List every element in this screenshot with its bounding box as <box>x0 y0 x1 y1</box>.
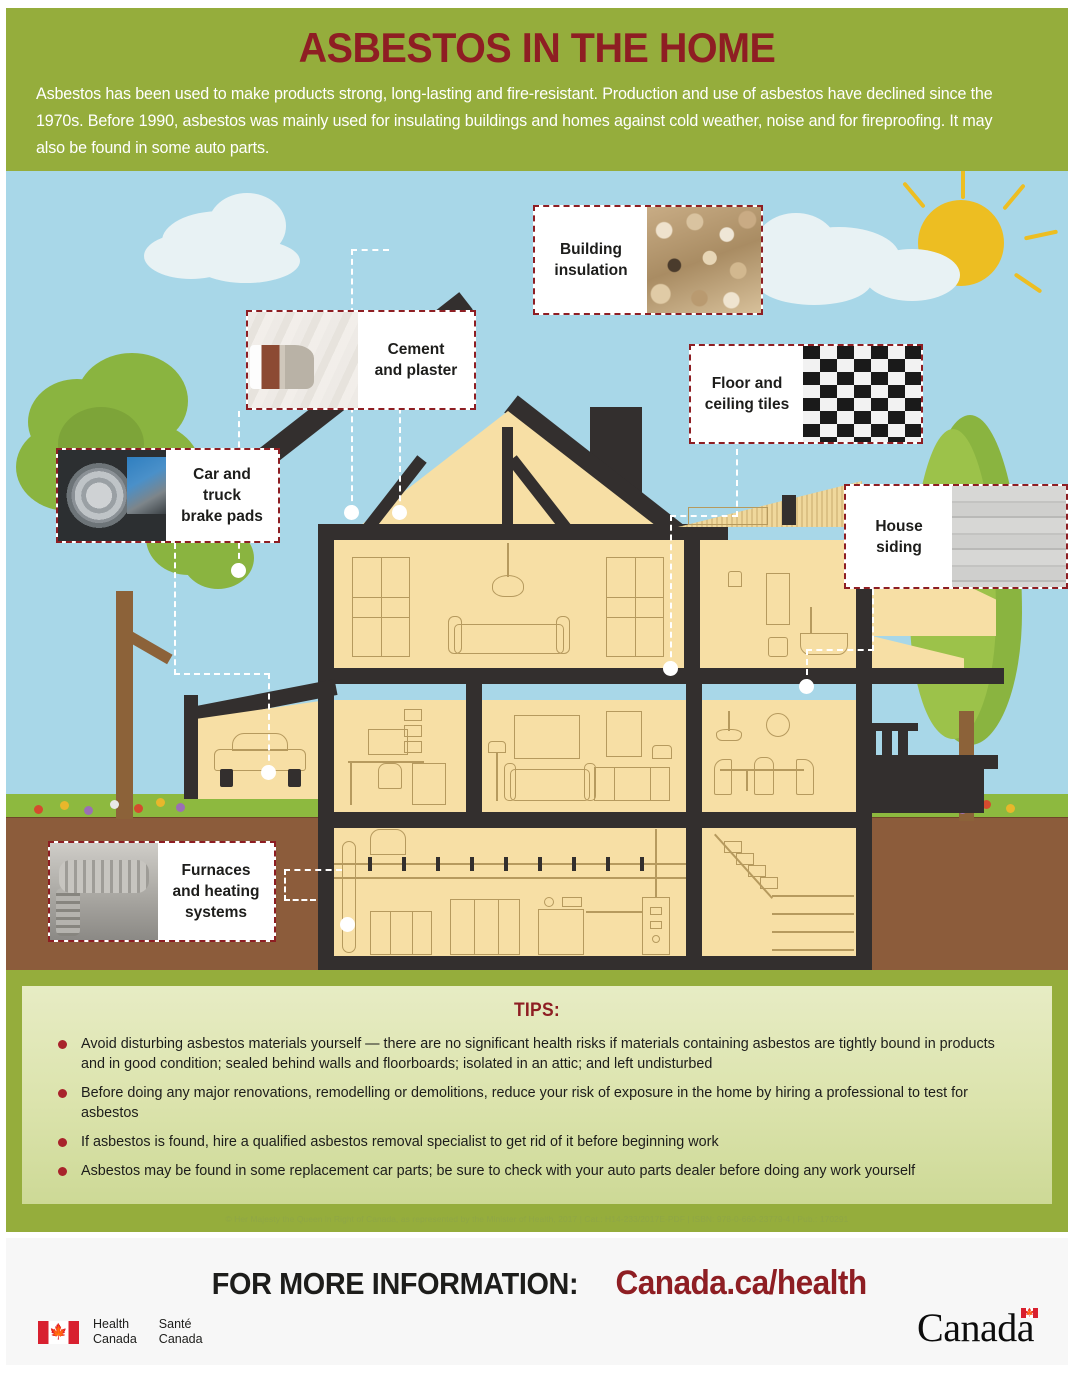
sofa-arm <box>556 616 570 654</box>
stair-landing-line <box>772 949 854 951</box>
plastering-trowel-photo <box>248 312 358 408</box>
stair-landing-line <box>772 913 854 915</box>
leader-line-tiles <box>670 515 672 667</box>
furnace-duct-elbow <box>370 829 406 855</box>
duct-hanger <box>504 857 508 871</box>
attic-stored-item <box>782 495 796 525</box>
stair-landing-line <box>772 931 854 933</box>
tips-section: TIPS: Avoid disturbing asbestos material… <box>6 970 1068 1232</box>
more-information-block: FOR MORE INFORMATION:Canada.ca/health <box>6 1264 1068 1303</box>
maple-leaf-icon: 🍁 <box>1025 1309 1034 1317</box>
attic-floor-beam <box>318 524 728 540</box>
page-title: ASBESTOS IN THE HOME <box>66 22 1008 74</box>
callout-label-line2: and heating <box>173 883 260 900</box>
stair-landing-line <box>772 895 854 897</box>
car-wheel <box>220 769 233 787</box>
basement-interior-wall <box>686 828 702 956</box>
callout-label-line1: Furnaces <box>182 862 251 879</box>
porch-rail-post <box>898 729 908 759</box>
basement-wall-right <box>856 828 872 956</box>
leader-dot-insulation <box>344 505 359 520</box>
leader-line-insulation <box>351 249 389 251</box>
house-cutaway-diagram <box>166 411 926 891</box>
callout-building-insulation[interactable]: Building insulation <box>533 205 763 315</box>
leader-dot-plaster <box>231 563 246 578</box>
callout-car-and-truck-brake-pads[interactable]: Car and truck brake pads <box>56 448 280 543</box>
stair-step <box>736 853 754 865</box>
porch-rail-post <box>866 729 876 759</box>
wall-lamp <box>728 571 742 587</box>
furnace-duct-photo <box>50 843 158 940</box>
tree-trunk <box>116 591 133 819</box>
leader-dot-siding <box>799 679 814 694</box>
duct-hanger <box>606 857 610 871</box>
monitor <box>368 729 408 755</box>
wall-frame <box>404 741 422 753</box>
washer-control-panel <box>562 897 582 907</box>
pendant-lamp-shade <box>716 729 742 741</box>
callout-label-house-siding: House siding <box>846 486 952 587</box>
dining-table-leg <box>746 769 748 791</box>
flower-icon <box>60 801 69 810</box>
car-roof <box>232 733 288 751</box>
flower-icon <box>156 798 165 807</box>
leader-line-siding <box>806 649 874 651</box>
canada-wordmark: Canada 🍁 <box>917 1304 1034 1351</box>
washing-machine <box>538 909 584 955</box>
main-floor-slab <box>318 668 1004 684</box>
bookcase-shelf <box>352 617 410 618</box>
footer: FOR MORE INFORMATION:Canada.ca/health 🍁 … <box>6 1238 1068 1365</box>
tub-faucet <box>810 607 812 633</box>
health-canada-fr-line1: Santé <box>159 1317 203 1332</box>
header-banner: ASBESTOS IN THE HOME Asbestos has been u… <box>6 8 1068 171</box>
sofa-arm <box>448 616 462 654</box>
sun-ray-icon <box>961 171 965 199</box>
health-canada-signature: 🍁 Health Canada Santé Canada <box>38 1317 225 1347</box>
duct-hanger <box>470 857 474 871</box>
checkerboard-tile-floor-photo <box>803 346 921 442</box>
leader-dot-furnace <box>340 917 355 932</box>
callout-label-line2: insulation <box>554 262 627 279</box>
callout-label-floor-and-ceiling-tiles: Floor and ceiling tiles <box>691 346 803 442</box>
porch-body <box>866 769 984 813</box>
car-wheel <box>288 769 301 787</box>
leader-line-furnace <box>284 869 342 871</box>
toilet <box>768 637 788 657</box>
interior-wall-main-1 <box>466 684 482 812</box>
boiler-vent <box>650 921 662 929</box>
car-body <box>214 749 306 771</box>
tip-text: Asbestos may be found in some replacemen… <box>81 1161 1012 1181</box>
copyright-line: © Her Majesty the Queen in Right of Cana… <box>6 1214 1068 1224</box>
leader-line-brakes <box>268 673 270 771</box>
health-canada-en-line2: Canada <box>93 1332 137 1347</box>
wall-frame <box>606 711 642 757</box>
pendant-lamp-cord <box>728 711 730 731</box>
garage-wall-left <box>184 695 198 799</box>
roof-king-post <box>502 427 513 531</box>
leader-line-brakes <box>174 673 270 675</box>
basement-wall-left <box>318 828 334 956</box>
boiler-gauge <box>652 935 660 943</box>
wall-frame <box>404 725 422 737</box>
sun-ray-icon <box>1002 183 1026 210</box>
sun-ray-icon <box>1014 272 1043 293</box>
basement-floor-slab <box>318 956 872 970</box>
pendant-lamp-shade <box>492 575 524 597</box>
gray-siding-planks-photo <box>952 486 1066 587</box>
exterior-wall-left-upper <box>318 524 334 668</box>
stair-step <box>760 877 778 889</box>
maple-leaf-icon: 🍁 <box>49 1325 68 1340</box>
dresser-divider <box>614 767 615 801</box>
wall-clock <box>766 713 790 737</box>
website-url[interactable]: Canada.ca/health <box>615 1264 866 1303</box>
canada-wordmark-flag-icon: 🍁 <box>1021 1308 1038 1318</box>
interior-wall-main-2 <box>686 684 702 812</box>
stair-step <box>748 865 766 877</box>
wall-frame <box>404 709 422 721</box>
callout-label-car-and-truck-brake-pads: Car and truck brake pads <box>166 450 278 541</box>
callout-label-building-insulation: Building insulation <box>535 207 647 313</box>
brake-rotor-photo <box>58 450 166 541</box>
desk-leg <box>350 761 352 805</box>
bookcase-shelf <box>606 617 664 618</box>
dresser-divider <box>650 767 651 801</box>
furnace-vent-pipe <box>342 841 356 953</box>
furnace-panel-divider <box>390 911 391 955</box>
tip-item: If asbestos is found, hire a qualified a… <box>48 1132 1026 1152</box>
leader-line-tiles <box>736 449 738 517</box>
infographic-poster: ASBESTOS IN THE HOME Asbestos has been u… <box>0 0 1074 1373</box>
health-canada-fr: Santé Canada <box>159 1317 203 1347</box>
leader-dot-insulation-branch <box>392 505 407 520</box>
tv-screen <box>514 715 580 759</box>
callout-label-line1: Car and truck <box>193 466 251 504</box>
office-chair <box>378 763 402 789</box>
dining-chair <box>714 759 732 795</box>
boiler-vent <box>650 907 662 915</box>
tip-text: If asbestos is found, hire a qualified a… <box>81 1132 1012 1152</box>
bullet-icon <box>58 1040 67 1049</box>
table-lamp-shade <box>652 745 672 759</box>
leader-dot-brakes <box>261 765 276 780</box>
leader-line-furnace <box>284 869 286 901</box>
sun-ray-icon <box>1024 230 1058 241</box>
callout-label-line1: Cement <box>388 341 445 358</box>
basement-ceiling-slab <box>318 812 872 828</box>
towel-radiator <box>766 573 790 625</box>
bullet-icon <box>58 1138 67 1147</box>
sun-ray-icon <box>902 181 926 208</box>
tip-text: Before doing any major renovations, remo… <box>81 1083 1012 1123</box>
floor-lamp-shade <box>488 741 506 753</box>
callout-furnaces-and-heating-systems[interactable]: Furnaces and heating systems <box>48 841 276 942</box>
interior-wall-upper <box>684 524 700 668</box>
cabinet-divider <box>474 899 475 955</box>
tip-item: Before doing any major renovations, remo… <box>48 1083 1026 1123</box>
bookcase-shelf <box>352 597 410 598</box>
main-duct-top <box>334 863 686 865</box>
leader-line-brakes <box>174 543 176 675</box>
sofa <box>510 769 590 801</box>
callout-label-line1: House siding <box>856 516 942 558</box>
leader-dot-tiles <box>663 661 678 676</box>
callout-label-line2: brake pads <box>181 508 263 525</box>
dining-chair <box>796 759 814 795</box>
exterior-wall-left-main <box>318 684 334 812</box>
washer-dial <box>544 897 554 907</box>
floor-lamp-pole <box>496 753 498 801</box>
cabinet-divider <box>498 899 499 955</box>
leader-line-furnace <box>284 899 316 901</box>
bookcase-shelf <box>606 597 664 598</box>
furnace-unit <box>370 911 432 955</box>
house-illustration-scene: Building insulation Cement and plaster F… <box>6 171 1068 970</box>
callout-label-cement-and-plaster: Cement and plaster <box>358 312 474 408</box>
porch-rail-top <box>866 723 918 731</box>
bookcase-divider <box>635 557 636 657</box>
callout-label-line1: Floor and <box>712 375 783 392</box>
room-main-office <box>334 700 466 812</box>
duct-hanger <box>572 857 576 871</box>
cloud-icon <box>864 249 960 301</box>
callout-label-line2: and plaster <box>375 362 458 379</box>
leader-line-tiles <box>670 515 738 517</box>
health-canada-en-line1: Health <box>93 1317 137 1332</box>
callout-house-siding[interactable]: House siding <box>844 484 1068 589</box>
health-canada-en: Health Canada <box>93 1317 137 1347</box>
pendant-lamp-cord <box>507 543 509 577</box>
furnace-panel-divider <box>412 911 413 955</box>
callout-cement-and-plaster[interactable]: Cement and plaster <box>246 310 476 410</box>
duct-hanger <box>436 857 440 871</box>
callout-label-line1: Building <box>560 241 622 258</box>
boiler-flue <box>655 829 657 897</box>
bookcase-divider <box>381 557 382 657</box>
bullet-icon <box>58 1089 67 1098</box>
duct-hanger <box>538 857 542 871</box>
flower-icon <box>110 800 119 809</box>
stair-step <box>724 841 742 853</box>
duct-hanger <box>368 857 372 871</box>
tip-item: Avoid disturbing asbestos materials your… <box>48 1034 1026 1074</box>
counter-top <box>586 911 642 913</box>
tips-title: TIPS: <box>87 1000 987 1022</box>
tip-text: Avoid disturbing asbestos materials your… <box>81 1034 1012 1074</box>
tip-item: Asbestos may be found in some replacemen… <box>48 1161 1026 1181</box>
vermiculite-insulation-photo <box>647 207 761 313</box>
more-information-label: FOR MORE INFORMATION: <box>212 1266 578 1302</box>
flower-icon <box>134 804 143 813</box>
callout-label-line2: ceiling tiles <box>705 396 789 413</box>
dresser <box>594 767 670 801</box>
callout-label-line3: systems <box>185 904 247 921</box>
bullet-icon <box>58 1167 67 1176</box>
duct-hanger <box>640 857 644 871</box>
cloud-icon <box>756 257 872 305</box>
dining-chair <box>754 757 774 795</box>
tips-panel: TIPS: Avoid disturbing asbestos material… <box>22 986 1052 1204</box>
cloud-icon <box>192 239 300 283</box>
side-cabinet <box>412 763 446 805</box>
flower-icon <box>1006 804 1015 813</box>
water-heater-cabinet <box>450 899 520 955</box>
main-duct-bottom <box>334 877 686 879</box>
canadian-flag-icon: 🍁 <box>38 1321 79 1344</box>
callout-floor-and-ceiling-tiles[interactable]: Floor and ceiling tiles <box>689 344 923 444</box>
leader-line-siding <box>872 589 874 651</box>
sofa-arm <box>504 763 516 801</box>
duct-hanger <box>402 857 406 871</box>
callout-label-furnaces-and-heating-systems: Furnaces and heating systems <box>158 843 274 940</box>
flower-icon <box>84 806 93 815</box>
canada-wordmark-text: Canada <box>917 1305 1034 1350</box>
sofa <box>454 624 564 654</box>
porch-rail-post <box>882 729 892 759</box>
intro-paragraph: Asbestos has been used to make products … <box>36 80 1008 161</box>
flower-icon <box>34 805 43 814</box>
health-canada-wordmark: Health Canada Santé Canada <box>93 1317 225 1347</box>
health-canada-fr-line2: Canada <box>159 1332 203 1347</box>
